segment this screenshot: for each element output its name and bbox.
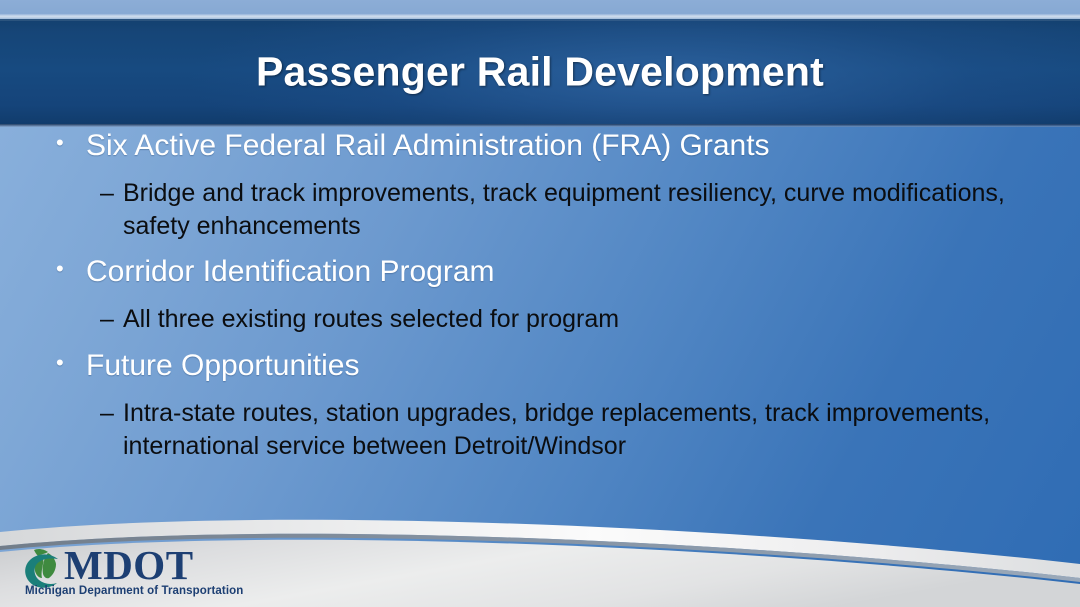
bullet-level2-text: Bridge and track improvements, track equ… xyxy=(123,177,1022,243)
dash-marker-icon: – xyxy=(100,303,123,336)
bullet-group: • Future Opportunities – Intra-state rou… xyxy=(0,346,1080,463)
bullet-level1-text: Future Opportunities xyxy=(86,346,1080,385)
spacer xyxy=(0,291,1080,303)
page-title: Passenger Rail Development xyxy=(0,48,1080,95)
bullet-level1: • Six Active Federal Rail Administration… xyxy=(0,126,1080,165)
slide-body: • Six Active Federal Rail Administration… xyxy=(0,126,1080,526)
bullet-level2: – All three existing routes selected for… xyxy=(0,303,1080,336)
bullet-level2: – Intra-state routes, station upgrades, … xyxy=(0,397,1080,463)
top-accent-strip xyxy=(0,0,1080,19)
spacer xyxy=(0,165,1080,177)
bullet-group: • Six Active Federal Rail Administration… xyxy=(0,126,1080,243)
bullet-marker-icon: • xyxy=(56,252,86,286)
bullet-level1: • Future Opportunities xyxy=(0,346,1080,385)
spacer xyxy=(0,243,1080,252)
bullet-group: • Corridor Identification Program – All … xyxy=(0,252,1080,336)
slide-canvas: Passenger Rail Development • Six Active … xyxy=(0,0,1080,607)
mdot-wordmark: MDOT xyxy=(64,545,194,586)
dash-marker-icon: – xyxy=(100,397,123,430)
bullet-level1-text: Six Active Federal Rail Administration (… xyxy=(86,126,1080,165)
bullet-level2-text: All three existing routes selected for p… xyxy=(123,303,1022,336)
mdot-tagline: Michigan Department of Transportation xyxy=(25,585,243,597)
bullet-level2-text: Intra-state routes, station upgrades, br… xyxy=(123,397,1022,463)
spacer xyxy=(0,385,1080,397)
mdot-logo: MDOT Michigan Department of Transportati… xyxy=(18,543,268,601)
dash-marker-icon: – xyxy=(100,177,123,210)
bullet-level2: – Bridge and track improvements, track e… xyxy=(0,177,1080,243)
spacer xyxy=(0,336,1080,346)
bullet-marker-icon: • xyxy=(56,126,86,160)
bullet-level1: • Corridor Identification Program xyxy=(0,252,1080,291)
bullet-marker-icon: • xyxy=(56,346,86,380)
bullet-level1-text: Corridor Identification Program xyxy=(86,252,1080,291)
title-banner: Passenger Rail Development xyxy=(0,19,1080,124)
